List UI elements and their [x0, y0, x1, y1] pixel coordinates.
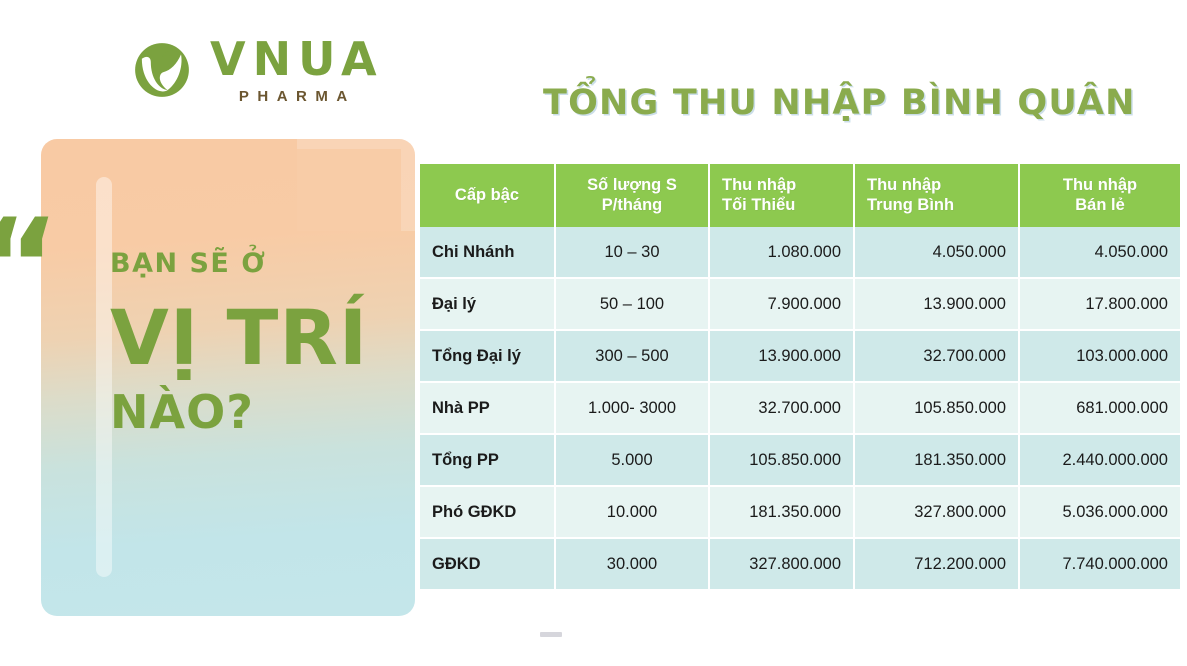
- brand-logo: VNUA PHARMA: [134, 36, 384, 104]
- logo-name: VNUA: [210, 36, 384, 82]
- income-table: Cấp bậc Số lượng S P/tháng Thu nhập Tối …: [420, 164, 1180, 591]
- table-row: Tổng PP5.000105.850.000181.350.0002.440.…: [420, 435, 1180, 487]
- cell-avg-income: 105.850.000: [855, 383, 1020, 435]
- cell-quantity: 10.000: [556, 487, 710, 539]
- table-row: Phó GĐKD10.000181.350.000327.800.0005.03…: [420, 487, 1180, 539]
- table-row: Đại lý50 – 1007.900.00013.900.00017.800.…: [420, 279, 1180, 331]
- quote-line-2: VỊ TRÍ: [110, 299, 400, 377]
- column-header-rank: Cấp bậc: [420, 164, 556, 227]
- quote-mark-icon: “: [0, 203, 58, 331]
- table-body: Chi Nhánh10 – 301.080.0004.050.0004.050.…: [420, 227, 1180, 591]
- table-header-row: Cấp bậc Số lượng S P/tháng Thu nhập Tối …: [420, 164, 1180, 227]
- column-header-avg-income: Thu nhập Trung Bình: [855, 164, 1020, 227]
- cell-min-income: 1.080.000: [710, 227, 855, 279]
- page-artifact: [540, 632, 562, 637]
- corner-bracket-decoration: [297, 139, 415, 231]
- cell-avg-income: 32.700.000: [855, 331, 1020, 383]
- cell-retail-income: 7.740.000.000: [1020, 539, 1180, 591]
- column-header-min-income: Thu nhập Tối Thiểu: [710, 164, 855, 227]
- cell-quantity: 300 – 500: [556, 331, 710, 383]
- cell-avg-income: 712.200.000: [855, 539, 1020, 591]
- column-header-quantity: Số lượng S P/tháng: [556, 164, 710, 227]
- logo-subname: PHARMA: [239, 89, 356, 104]
- cell-avg-income: 181.350.000: [855, 435, 1020, 487]
- cell-rank: GĐKD: [420, 539, 556, 591]
- table-row: Nhà PP1.000- 300032.700.000105.850.00068…: [420, 383, 1180, 435]
- column-header-min-income-line1: Thu nhập: [722, 176, 796, 194]
- logo-wordmark: VNUA PHARMA: [204, 36, 384, 104]
- column-header-retail-income-line2: Bán lẻ: [1075, 196, 1125, 214]
- cell-min-income: 327.800.000: [710, 539, 855, 591]
- table-row: Tổng Đại lý300 – 50013.900.00032.700.000…: [420, 331, 1180, 383]
- cell-min-income: 105.850.000: [710, 435, 855, 487]
- cell-quantity: 5.000: [556, 435, 710, 487]
- quote-line-1: BẠN SẼ Ở: [110, 250, 400, 277]
- cell-retail-income: 17.800.000: [1020, 279, 1180, 331]
- cell-rank: Đại lý: [420, 279, 556, 331]
- cell-retail-income: 4.050.000: [1020, 227, 1180, 279]
- table-row: Chi Nhánh10 – 301.080.0004.050.0004.050.…: [420, 227, 1180, 279]
- column-header-quantity-line1: Số lượng S: [587, 176, 677, 194]
- cell-min-income: 181.350.000: [710, 487, 855, 539]
- cell-quantity: 10 – 30: [556, 227, 710, 279]
- leaf-circle-logo-icon: [134, 42, 190, 98]
- quote-line-3: NÀO?: [110, 389, 400, 435]
- column-header-retail-income-line1: Thu nhập: [1063, 176, 1137, 194]
- column-header-avg-income-line1: Thu nhập: [867, 176, 941, 194]
- column-header-retail-income: Thu nhập Bán lẻ: [1020, 164, 1180, 227]
- cell-avg-income: 13.900.000: [855, 279, 1020, 331]
- cell-quantity: 1.000- 3000: [556, 383, 710, 435]
- cell-min-income: 13.900.000: [710, 331, 855, 383]
- column-header-rank-line1: Cấp bậc: [455, 186, 519, 204]
- cell-retail-income: 5.036.000.000: [1020, 487, 1180, 539]
- cell-rank: Phó GĐKD: [420, 487, 556, 539]
- page-title: TỔNG THU NHẬP BÌNH QUÂN: [543, 83, 1136, 123]
- cell-retail-income: 2.440.000.000: [1020, 435, 1180, 487]
- cell-rank: Tổng PP: [420, 435, 556, 487]
- table-row: GĐKD30.000327.800.000712.200.0007.740.00…: [420, 539, 1180, 591]
- cell-rank: Tổng Đại lý: [420, 331, 556, 383]
- cell-retail-income: 103.000.000: [1020, 331, 1180, 383]
- cell-quantity: 30.000: [556, 539, 710, 591]
- cell-avg-income: 4.050.000: [855, 227, 1020, 279]
- cell-avg-income: 327.800.000: [855, 487, 1020, 539]
- column-header-quantity-line2: P/tháng: [602, 196, 663, 214]
- cell-quantity: 50 – 100: [556, 279, 710, 331]
- cell-rank: Nhà PP: [420, 383, 556, 435]
- column-header-min-income-line2: Tối Thiểu: [722, 196, 795, 214]
- column-header-avg-income-line2: Trung Bình: [867, 196, 954, 214]
- cell-min-income: 32.700.000: [710, 383, 855, 435]
- cell-rank: Chi Nhánh: [420, 227, 556, 279]
- cell-retail-income: 681.000.000: [1020, 383, 1180, 435]
- quote-text-block: BẠN SẼ Ở VỊ TRÍ NÀO?: [110, 250, 400, 435]
- cell-min-income: 7.900.000: [710, 279, 855, 331]
